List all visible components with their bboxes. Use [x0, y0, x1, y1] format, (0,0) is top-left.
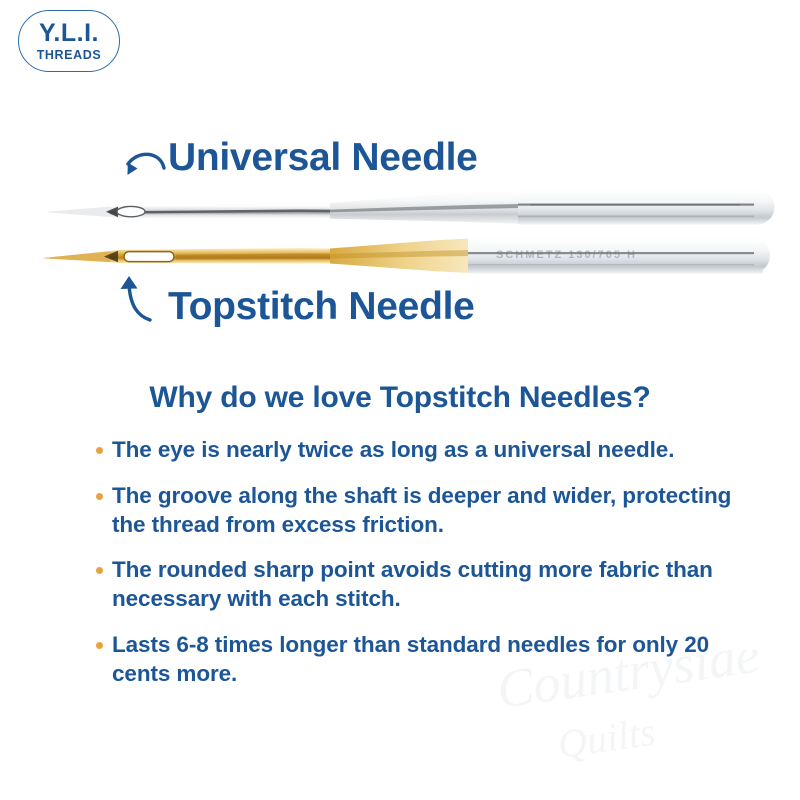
list-item-text: The eye is nearly twice as long as a uni… — [112, 436, 674, 465]
list-item-text: Lasts 6-8 times longer than standard nee… — [112, 631, 736, 689]
curved-arrow-down-left-icon — [116, 140, 168, 192]
logo-main-text: Y.L.I. — [39, 21, 99, 46]
universal-needle-graphic — [45, 190, 775, 225]
bullet-dot-icon — [96, 493, 103, 500]
bullet-dot-icon — [96, 642, 103, 649]
topstitch-needle-label: Topstitch Needle — [168, 285, 475, 329]
watermark-line-2: Quilts — [555, 709, 658, 767]
page-title: Why do we love Topstitch Needles? — [0, 381, 800, 415]
logo-sub-text: THREADS — [37, 49, 102, 62]
list-item: Lasts 6-8 times longer than standard nee… — [96, 631, 736, 689]
curved-arrow-up-icon — [112, 268, 164, 326]
list-item-text: The rounded sharp point avoids cutting m… — [112, 556, 736, 614]
infographic-page: Y.L.I. THREADS — [0, 0, 800, 800]
list-item-text: The groove along the shaft is deeper and… — [112, 482, 736, 540]
bullet-dot-icon — [96, 567, 103, 574]
list-item: The eye is nearly twice as long as a uni… — [96, 436, 736, 465]
list-item: The groove along the shaft is deeper and… — [96, 482, 736, 540]
universal-needle-label: Universal Needle — [168, 136, 478, 180]
benefits-list: The eye is nearly twice as long as a uni… — [96, 436, 736, 706]
svg-text:SCHMETZ 130/705 H: SCHMETZ 130/705 H — [496, 249, 637, 261]
list-item: The rounded sharp point avoids cutting m… — [96, 556, 736, 614]
brand-logo: Y.L.I. THREADS — [18, 10, 120, 72]
bullet-dot-icon — [96, 447, 103, 454]
